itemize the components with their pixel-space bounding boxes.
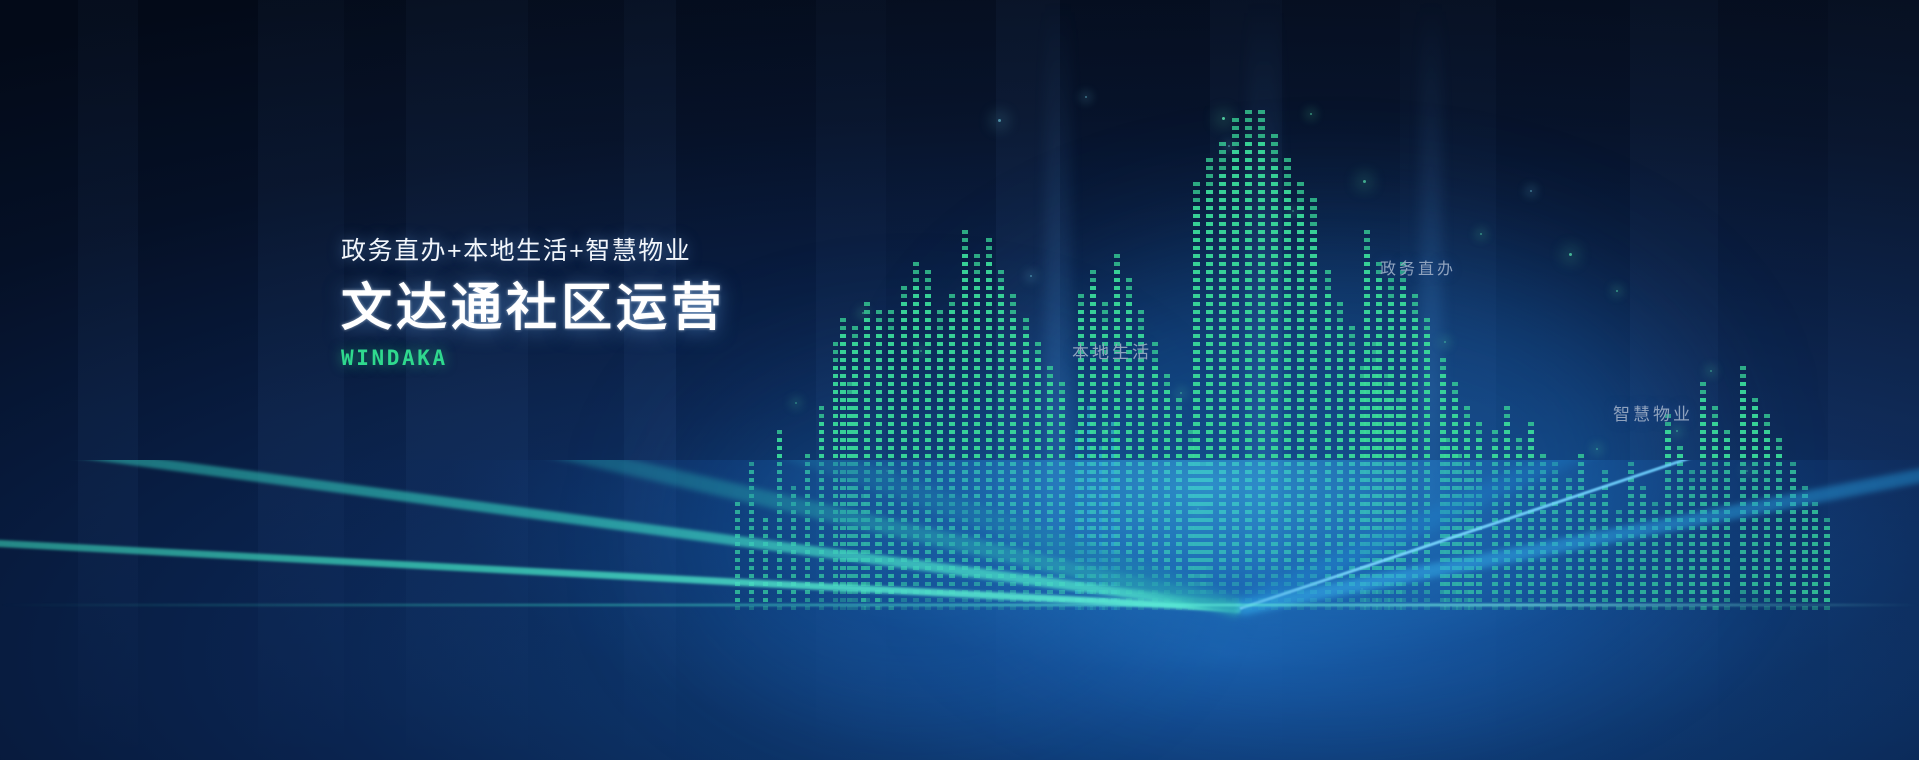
perspective-ray xyxy=(1240,460,1919,609)
sparkle-dot xyxy=(862,312,864,314)
skyline-bar xyxy=(901,280,907,610)
skyline-bar xyxy=(1310,198,1317,610)
skyline-bar xyxy=(840,315,846,610)
background-bands xyxy=(0,0,1919,760)
background-band xyxy=(406,0,528,760)
sparkle-dot xyxy=(1222,117,1225,120)
skyline-bar xyxy=(1476,422,1482,610)
skyline-bar xyxy=(1047,360,1053,610)
skyline-bar xyxy=(847,380,852,610)
skyline-bar xyxy=(1677,442,1683,610)
skyline-bar xyxy=(1752,392,1758,610)
skyline-bar xyxy=(913,258,919,610)
skyline-bar xyxy=(1010,292,1016,610)
skyline-bar xyxy=(763,512,768,610)
skyline-bar xyxy=(1364,230,1370,610)
skyline-bar xyxy=(1284,155,1291,610)
skyline-bar xyxy=(1176,398,1182,610)
skyline-bar xyxy=(791,480,796,610)
skyline-bar xyxy=(833,342,838,610)
perspective-ray xyxy=(0,460,1242,616)
skyline-bar xyxy=(986,238,992,610)
background-band xyxy=(1400,0,1496,760)
skyline-bar xyxy=(1337,300,1343,610)
dotted-skyline-chart xyxy=(0,0,1919,760)
skyline-bar xyxy=(1232,118,1239,610)
sparkle-dot xyxy=(1676,430,1678,432)
skyline-bar xyxy=(1790,460,1796,610)
skyline-bar xyxy=(1552,462,1558,610)
background-band xyxy=(1210,0,1282,760)
background-band xyxy=(996,0,1060,760)
skyline-bar xyxy=(1087,402,1093,610)
skyline-bar xyxy=(1689,470,1695,610)
hero-main-title: 文达通社区运营 xyxy=(341,279,726,336)
skyline-bar xyxy=(1271,130,1278,610)
background-band xyxy=(258,0,344,760)
skyline-bar xyxy=(1665,414,1671,610)
skyline-bar xyxy=(1111,420,1117,610)
background-band xyxy=(78,0,138,760)
sparkle-dot xyxy=(1616,290,1618,292)
sparkle-dot xyxy=(1292,210,1294,212)
skyline-label: 智慧物业 xyxy=(1613,400,1693,425)
background-band xyxy=(1496,0,1630,760)
sparkle-dot xyxy=(1596,448,1598,450)
skyline-bar xyxy=(864,298,870,610)
skyline-glow-left xyxy=(700,380,1130,680)
sparkle-dot xyxy=(886,470,888,472)
skyline-bar xyxy=(1578,450,1584,610)
sparkle-dot xyxy=(1030,275,1032,277)
skyline-bar xyxy=(1602,468,1608,610)
skyline-bar xyxy=(1099,444,1105,610)
perspective-ray xyxy=(1239,460,1919,615)
skyline-bar xyxy=(1360,360,1366,610)
skyline-bar xyxy=(1384,368,1390,610)
skyline-bar xyxy=(749,460,754,610)
background-band xyxy=(138,0,258,760)
skyline-bar xyxy=(1616,505,1622,610)
sparkle-dot xyxy=(1310,113,1312,115)
sparkle-dot xyxy=(1592,530,1594,532)
skyline-bar xyxy=(1712,405,1718,610)
skyline-bar xyxy=(888,310,894,610)
sparkle-dot xyxy=(998,119,1001,122)
skyline-bar xyxy=(1325,270,1331,610)
background-band xyxy=(1060,0,1210,760)
skyline-bar xyxy=(777,425,782,610)
skyline-bar xyxy=(1035,340,1041,610)
skyline-bar xyxy=(1206,158,1213,610)
skyline-bar xyxy=(998,265,1004,610)
skyline-bar xyxy=(1516,438,1522,610)
perspective-ray xyxy=(1236,460,1919,617)
skyline-bar xyxy=(1764,414,1770,610)
skyline-bar xyxy=(1245,105,1252,610)
skyline-bar xyxy=(1700,378,1706,610)
skyline-bar xyxy=(1566,478,1572,610)
sparkle-dot xyxy=(1710,370,1712,372)
skyline-bar xyxy=(1219,140,1226,610)
skyline-bar xyxy=(819,405,824,610)
horizon-line xyxy=(0,604,1919,606)
skyline-bar xyxy=(1258,110,1265,610)
sparkle-dot xyxy=(1180,392,1182,394)
skyline-bar xyxy=(1297,178,1304,610)
sparkle-dot xyxy=(1361,588,1363,590)
skyline-bar xyxy=(1824,515,1830,610)
skyline-bar xyxy=(1090,265,1096,610)
skyline-bar xyxy=(1468,465,1474,610)
skyline-bar xyxy=(937,310,943,610)
skyline-bar xyxy=(1464,402,1470,610)
skyline-bar xyxy=(1188,430,1194,610)
skyline-bar xyxy=(1372,342,1378,610)
background-band xyxy=(1828,0,1919,760)
skyline-bar xyxy=(1400,258,1406,610)
skyline-bar xyxy=(1713,510,1719,610)
skyline-bar xyxy=(1444,432,1450,610)
sparkle-dot xyxy=(1480,233,1482,235)
background-band xyxy=(624,0,676,760)
skyline-label: 政务直办 xyxy=(1380,255,1456,279)
skyline-bar xyxy=(889,467,894,610)
light-beam-center xyxy=(1248,0,1280,640)
sparkle-dot xyxy=(1444,341,1446,343)
skyline-bar xyxy=(1200,460,1206,610)
background-band xyxy=(816,0,886,760)
background-band xyxy=(528,0,624,760)
skyline-bar xyxy=(1152,342,1158,610)
skyline-bar xyxy=(1396,392,1402,610)
skyline-bar xyxy=(962,228,968,610)
hero-text-block: 政务直办+本地生活+智慧物业 文达通社区运营 WINDAKA xyxy=(341,236,726,370)
sparkle-dot xyxy=(1569,253,1572,256)
skyline-bar xyxy=(1193,180,1200,610)
skyline-bar xyxy=(1456,448,1462,610)
light-beam-left xyxy=(1045,0,1071,620)
background-band xyxy=(344,0,406,760)
perspective-ray xyxy=(0,468,1240,611)
skyline-bar xyxy=(1802,482,1808,610)
sparkle-dot xyxy=(795,402,797,404)
skyline-bar xyxy=(1023,314,1029,610)
background-band xyxy=(676,0,816,760)
hero-tagline: 政务直办+本地生活+智慧物业 xyxy=(341,236,726,266)
sparkle-dot xyxy=(1363,180,1366,183)
background-band xyxy=(1718,0,1828,760)
sparkle-dot xyxy=(1746,470,1748,472)
perspective-ray xyxy=(0,460,1241,613)
ground-glow xyxy=(0,460,1919,760)
skyline-bar xyxy=(1388,278,1394,610)
skyline-bar xyxy=(1075,425,1081,610)
skyline-bar xyxy=(1376,255,1382,610)
skyline-bar xyxy=(1652,498,1658,610)
skyline-bar xyxy=(1528,415,1534,610)
background-band xyxy=(886,0,996,760)
skyline-bar xyxy=(1452,378,1458,610)
skyline-bar xyxy=(1504,405,1510,610)
skyline-bar xyxy=(1640,482,1646,610)
skyline-bar xyxy=(1114,248,1120,610)
skyline-bar xyxy=(1701,488,1707,610)
skyline-bar xyxy=(1812,500,1818,610)
hero-brand-name: WINDAKA xyxy=(341,346,726,370)
sparkle-dot xyxy=(1228,145,1230,147)
perspective-rays xyxy=(0,460,1919,760)
light-beam-right xyxy=(1420,0,1442,560)
skyline-bar xyxy=(1540,450,1546,610)
skyline-bar xyxy=(1440,355,1446,610)
skyline-bar xyxy=(875,514,880,610)
skyline-bar xyxy=(1628,460,1634,610)
skyline-bar xyxy=(876,305,882,610)
sparkle-dot xyxy=(1085,96,1087,98)
skyline-bar xyxy=(1424,315,1430,610)
skyline-bar xyxy=(1740,362,1746,610)
skyline-bar xyxy=(1059,378,1065,610)
skyline-bar xyxy=(852,322,858,610)
background-band xyxy=(1630,0,1718,760)
sparkle-dot xyxy=(920,350,922,352)
background-band xyxy=(1282,0,1400,760)
skyline-bar xyxy=(1590,492,1596,610)
sparkle-dot xyxy=(1105,430,1107,432)
sparkle-dot xyxy=(1197,508,1199,510)
skyline-bar xyxy=(805,448,810,610)
skyline-bar xyxy=(1349,325,1355,610)
sparkle-dot xyxy=(1530,190,1532,192)
skyline-bar xyxy=(1492,428,1498,610)
skyline-bar xyxy=(925,270,931,610)
skyline-bar xyxy=(974,250,980,610)
skyline-label: 本地生活 xyxy=(1072,338,1152,363)
skyline-bar xyxy=(1412,292,1418,610)
skyline-bar xyxy=(861,492,866,610)
skyline-bar xyxy=(1724,424,1730,610)
skyline-bar xyxy=(1776,438,1782,610)
skyline-bar xyxy=(735,495,740,610)
perspective-ray xyxy=(0,460,1244,618)
skyline-glow-main xyxy=(980,250,1680,670)
skyline-bar xyxy=(1164,370,1170,610)
skyline-bar xyxy=(949,288,955,610)
background-band xyxy=(0,0,78,760)
hero-banner: 政务直办+本地生活+智慧物业 文达通社区运营 WINDAKA 政务直办本地生活智… xyxy=(0,0,1919,760)
skyline-bar xyxy=(1126,275,1132,610)
